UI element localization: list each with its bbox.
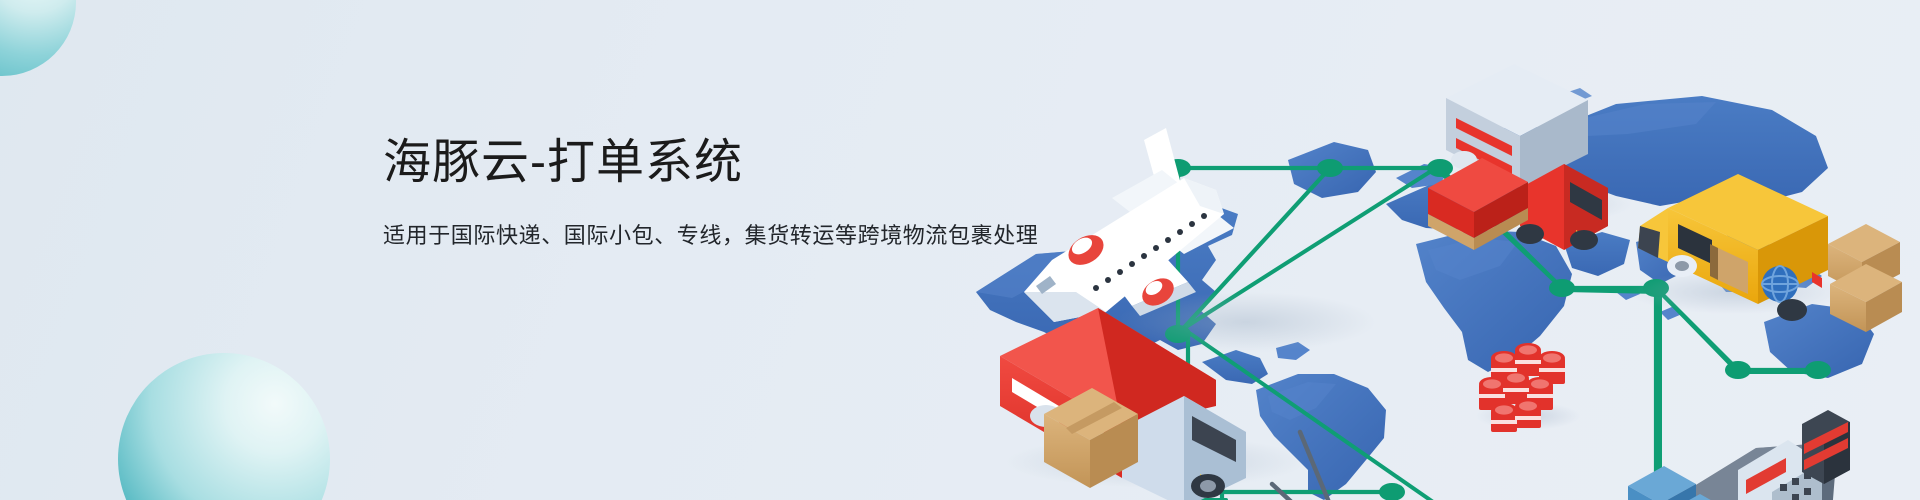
isometric-world-logistics-map-illustration — [916, 0, 1920, 500]
teal-bubble-top-left-icon — [0, 0, 76, 76]
red-barrels-icon — [1476, 343, 1580, 432]
cardboard-boxes-icon — [1828, 224, 1902, 332]
teal-bubble-bottom-left-icon — [118, 353, 330, 500]
hero-banner: 海豚云-打单系统 适用于国际快递、国际小包、专线，集货转运等跨境物流包裹处理 — [0, 0, 1920, 500]
